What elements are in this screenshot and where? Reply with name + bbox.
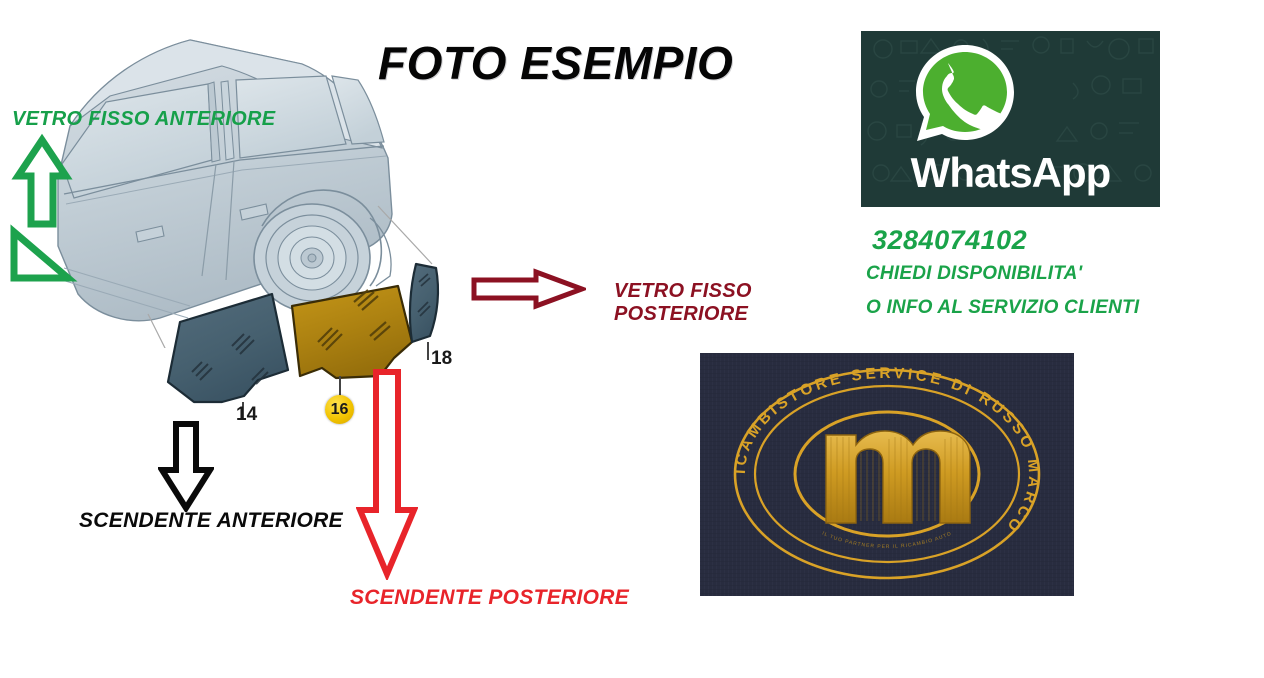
label-front-drop-glass: SCENDENTE ANTERIORE <box>79 509 343 533</box>
contact-line-1: CHIEDI DISPONIBILITA' <box>866 263 1082 285</box>
page-title: FOTO ESEMPIO <box>378 36 733 90</box>
diagram-canvas: 14 16 17 18 FOTO ESEMPIO VETRO FISSO ANT… <box>0 0 1264 678</box>
contact-line-2: O INFO AL SERVIZIO CLIENTI <box>866 297 1139 319</box>
up-arrow-green-icon <box>6 132 78 284</box>
label-front-fixed-glass: VETRO FISSO ANTERIORE <box>12 108 275 131</box>
rear-drop-glass-shape <box>292 286 412 378</box>
label-rear-fixed-glass-line2: POSTERIORE <box>614 303 748 325</box>
down-arrow-black-icon <box>158 420 214 512</box>
shop-logo-monogram <box>826 431 970 523</box>
part-14-shape <box>168 294 288 402</box>
label-rear-fixed-glass: VETRO FISSO POSTERIORE <box>614 280 752 326</box>
whatsapp-logo-icon <box>908 37 1022 151</box>
label-rear-drop-glass: SCENDENTE POSTERIORE <box>350 586 629 610</box>
whatsapp-banner: WhatsApp <box>861 31 1160 207</box>
label-rear-fixed-glass-line1: VETRO FISSO <box>614 280 752 302</box>
part-18-shape <box>410 264 438 342</box>
part-number-16-badge: 16 <box>325 395 354 424</box>
part-number-14: 14 <box>236 404 257 426</box>
part-number-18: 18 <box>431 348 452 370</box>
shop-logo: MRICAMBISTORE SERVICE DI RUSSO MARCO IL … <box>700 353 1074 596</box>
down-arrow-red-icon <box>356 368 418 580</box>
phone-number[interactable]: 3284074102 <box>872 225 1027 256</box>
right-arrow-dark-red-icon <box>470 268 586 310</box>
whatsapp-wordmark: WhatsApp <box>861 149 1160 197</box>
